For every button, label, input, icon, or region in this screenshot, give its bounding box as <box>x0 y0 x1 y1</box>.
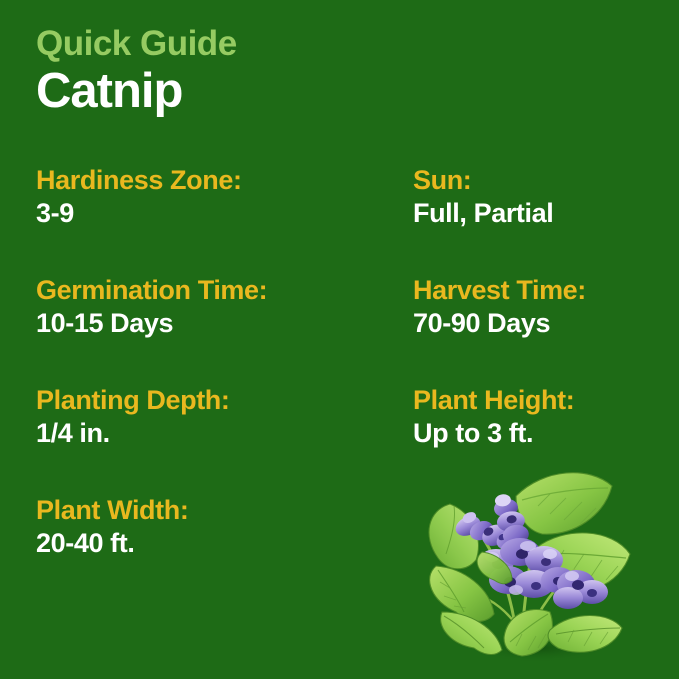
spec-label: Planting Depth: <box>36 386 396 415</box>
spec-label: Hardiness Zone: <box>36 166 396 195</box>
spec-value: 70-90 Days <box>413 308 679 338</box>
spec-label: Sun: <box>413 166 679 195</box>
quick-guide-card: Quick Guide Catnip Hardiness Zone: 3-9 G… <box>0 0 679 679</box>
spec-item-plant-width: Plant Width: 20-40 ft. <box>36 496 396 558</box>
spec-label: Harvest Time: <box>413 276 679 305</box>
spec-value: 3-9 <box>36 198 396 228</box>
spec-item-germination-time: Germination Time: 10-15 Days <box>36 276 396 338</box>
spec-value: Full, Partial <box>413 198 679 228</box>
spec-value: 10-15 Days <box>36 308 396 338</box>
kicker-text: Quick Guide <box>36 26 596 62</box>
spec-item-hardiness-zone: Hardiness Zone: 3-9 <box>36 166 396 228</box>
spec-item-planting-depth: Planting Depth: 1/4 in. <box>36 386 396 448</box>
spec-item-plant-height: Plant Height: Up to 3 ft. <box>413 386 679 448</box>
catnip-plant-illustration <box>398 462 638 672</box>
card-header: Quick Guide Catnip <box>36 26 596 117</box>
spec-item-sun: Sun: Full, Partial <box>413 166 679 228</box>
spec-value: 20-40 ft. <box>36 528 396 558</box>
spec-item-harvest-time: Harvest Time: 70-90 Days <box>413 276 679 338</box>
spec-label: Germination Time: <box>36 276 396 305</box>
spec-label: Plant Width: <box>36 496 396 525</box>
spec-value: 1/4 in. <box>36 418 396 448</box>
page-title: Catnip <box>36 66 596 117</box>
spec-value: Up to 3 ft. <box>413 418 679 448</box>
spec-label: Plant Height: <box>413 386 679 415</box>
